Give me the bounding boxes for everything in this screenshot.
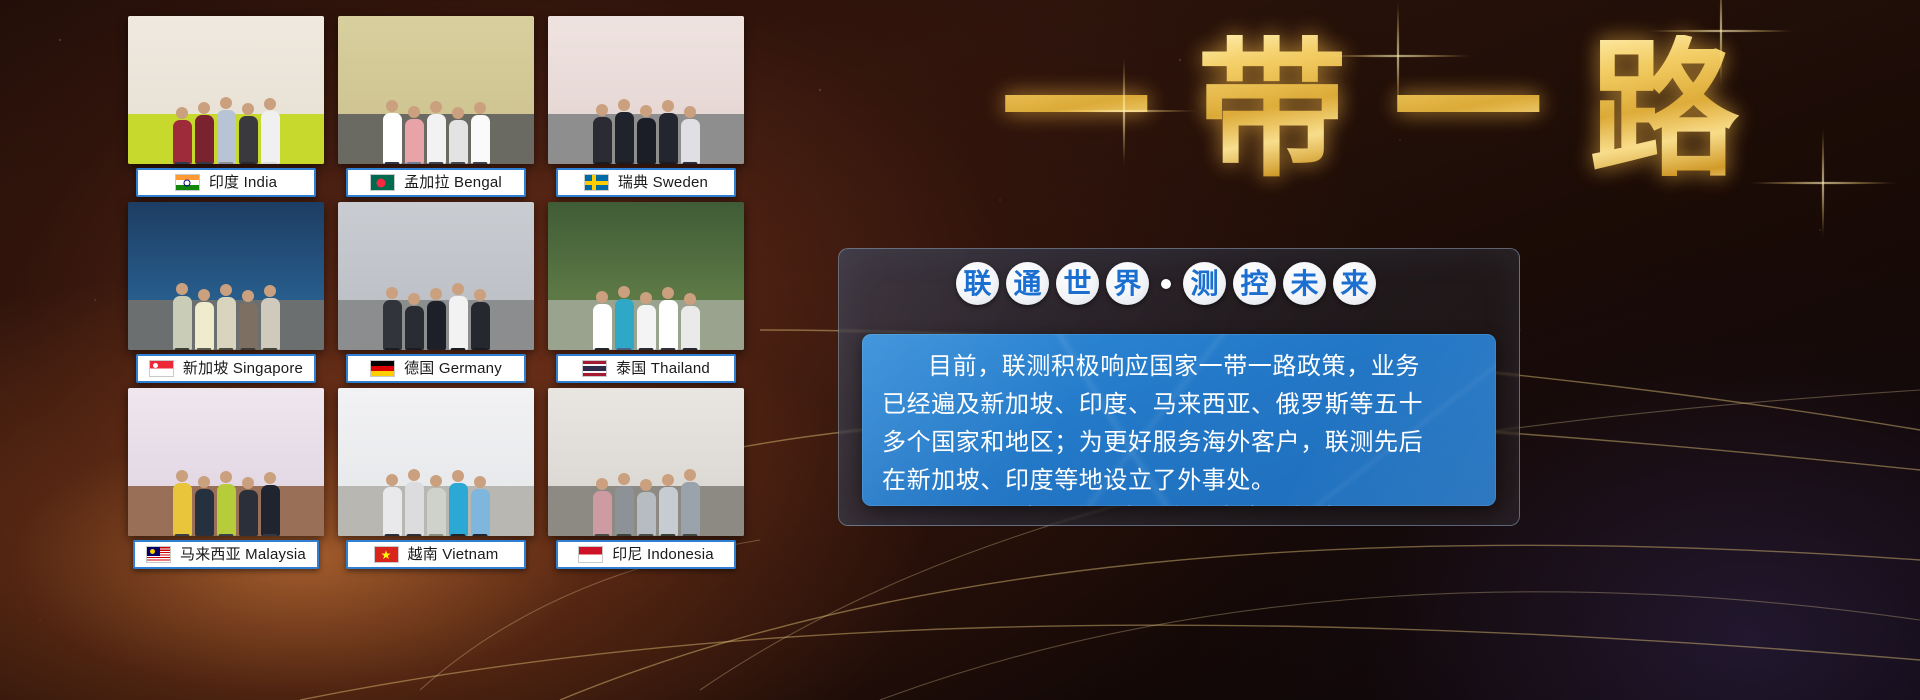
country-label-text: 印度 India bbox=[209, 175, 277, 190]
photo-group-figures bbox=[338, 426, 534, 536]
slogan-badges: 联 通 世 界 测 控 未 来 bbox=[956, 262, 1376, 305]
description-line-2: 已经遍及新加坡、印度、马来西亚、俄罗斯等五十 bbox=[882, 385, 1476, 423]
singapore-flag bbox=[149, 360, 174, 377]
banner-stage: 印度 India孟加拉 Bengal瑞典 Sweden新加坡 Singapore… bbox=[0, 0, 1920, 700]
country-photo bbox=[548, 388, 744, 536]
country-photo bbox=[338, 388, 534, 536]
germany-flag bbox=[370, 360, 395, 377]
person-figure bbox=[471, 302, 490, 350]
person-figure bbox=[615, 299, 634, 350]
person-figure bbox=[427, 114, 446, 164]
country-photo bbox=[128, 16, 324, 164]
photo-group-figures bbox=[128, 54, 324, 164]
sparkle-right bbox=[1720, 30, 1722, 32]
person-figure bbox=[217, 297, 236, 350]
person-figure bbox=[217, 484, 236, 536]
person-figure bbox=[261, 485, 280, 536]
country-label-text: 泰国 Thailand bbox=[616, 361, 710, 376]
company-description-box: 目前，联测积极响应国家一带一路政策，业务 已经遍及新加坡、印度、马来西亚、俄罗斯… bbox=[862, 334, 1496, 506]
person-figure bbox=[239, 116, 258, 164]
sparkle-left bbox=[1123, 110, 1125, 112]
country-label-text: 越南 Vietnam bbox=[408, 547, 499, 562]
country-label: 印度 India bbox=[136, 168, 316, 197]
person-figure bbox=[681, 482, 700, 536]
country-label: 马来西亚 Malaysia bbox=[133, 540, 319, 569]
photo-group-figures bbox=[128, 426, 324, 536]
person-figure bbox=[449, 483, 468, 536]
person-figure bbox=[195, 115, 214, 164]
description-line-4: 在新加坡、印度等地设立了外事处。 bbox=[882, 461, 1476, 499]
calligraphy-char-2: 带 bbox=[1197, 35, 1347, 185]
country-label: 瑞典 Sweden bbox=[556, 168, 736, 197]
indonesia-flag bbox=[578, 546, 603, 563]
country-label-text: 马来西亚 Malaysia bbox=[180, 547, 306, 562]
person-figure bbox=[383, 113, 402, 164]
photo-group-figures bbox=[548, 426, 744, 536]
person-figure bbox=[173, 483, 192, 536]
person-figure bbox=[593, 304, 612, 350]
person-figure bbox=[659, 487, 678, 536]
person-figure bbox=[261, 298, 280, 350]
person-figure bbox=[637, 492, 656, 536]
slogan-char-jie: 界 bbox=[1106, 262, 1149, 305]
country-label-text: 瑞典 Sweden bbox=[618, 175, 708, 190]
slogan-char-kong: 控 bbox=[1233, 262, 1276, 305]
sparkle-center bbox=[1397, 55, 1399, 57]
gallery-cell[interactable]: 马来西亚 Malaysia bbox=[128, 388, 324, 573]
country-label: 印尼 Indonesia bbox=[556, 540, 736, 569]
gallery-cell[interactable]: 瑞典 Sweden bbox=[548, 16, 744, 201]
description-line-1: 目前，联测积极响应国家一带一路政策，业务 bbox=[882, 347, 1476, 385]
person-figure bbox=[195, 489, 214, 536]
person-figure bbox=[405, 119, 424, 164]
country-photo bbox=[548, 16, 744, 164]
country-photo-grid: 印度 India孟加拉 Bengal瑞典 Sweden新加坡 Singapore… bbox=[128, 16, 756, 586]
country-photo bbox=[338, 202, 534, 350]
gallery-cell[interactable]: 新加坡 Singapore bbox=[128, 202, 324, 387]
slogan-separator-dot bbox=[1161, 279, 1171, 289]
person-figure bbox=[427, 301, 446, 350]
person-figure bbox=[239, 303, 258, 350]
person-figure bbox=[681, 306, 700, 350]
person-figure bbox=[449, 120, 468, 164]
gallery-cell[interactable]: 泰国 Thailand bbox=[548, 202, 744, 387]
person-figure bbox=[681, 119, 700, 164]
photo-group-figures bbox=[338, 240, 534, 350]
description-line-5: 联测，为国产仪表正名，为中国制造加分！ bbox=[882, 499, 1476, 506]
person-figure bbox=[637, 305, 656, 350]
person-figure bbox=[615, 486, 634, 536]
vietnam-flag bbox=[374, 546, 399, 563]
slogan-char-lai: 来 bbox=[1333, 262, 1376, 305]
thailand-flag bbox=[582, 360, 607, 377]
country-label-text: 德国 Germany bbox=[404, 361, 502, 376]
person-figure bbox=[615, 112, 634, 164]
person-figure bbox=[261, 111, 280, 164]
person-figure bbox=[173, 296, 192, 350]
person-figure bbox=[449, 296, 468, 350]
country-label: 新加坡 Singapore bbox=[136, 354, 316, 383]
person-figure bbox=[405, 306, 424, 350]
person-figure bbox=[471, 489, 490, 536]
slogan-char-tong: 通 bbox=[1006, 262, 1049, 305]
country-photo bbox=[548, 202, 744, 350]
slogan-char-ce: 测 bbox=[1183, 262, 1226, 305]
country-photo bbox=[338, 16, 534, 164]
person-figure bbox=[471, 115, 490, 164]
sparkle-lower-right bbox=[1822, 182, 1824, 184]
person-figure bbox=[383, 300, 402, 350]
person-figure bbox=[217, 110, 236, 164]
country-label: 越南 Vietnam bbox=[346, 540, 526, 569]
country-label: 德国 Germany bbox=[346, 354, 526, 383]
belt-and-road-calligraphy: 一 带 一 路 bbox=[840, 10, 1900, 210]
gallery-cell[interactable]: 越南 Vietnam bbox=[338, 388, 534, 573]
malaysia-flag bbox=[146, 546, 171, 563]
gallery-cell[interactable]: 印度 India bbox=[128, 16, 324, 201]
person-figure bbox=[637, 118, 656, 164]
photo-group-figures bbox=[548, 54, 744, 164]
slogan-char-lian: 联 bbox=[956, 262, 999, 305]
slogan-char-shi: 世 bbox=[1056, 262, 1099, 305]
bangladesh-flag bbox=[370, 174, 395, 191]
india-flag bbox=[175, 174, 200, 191]
person-figure bbox=[195, 302, 214, 350]
calligraphy-char-4: 路 bbox=[1589, 35, 1739, 185]
gallery-cell[interactable]: 德国 Germany bbox=[338, 202, 534, 387]
country-label-text: 印尼 Indonesia bbox=[612, 547, 714, 562]
person-figure bbox=[659, 113, 678, 164]
person-figure bbox=[383, 487, 402, 536]
person-figure bbox=[239, 490, 258, 536]
slogan-char-wei: 未 bbox=[1283, 262, 1326, 305]
country-photo bbox=[128, 202, 324, 350]
country-label: 泰国 Thailand bbox=[556, 354, 736, 383]
country-label: 孟加拉 Bengal bbox=[346, 168, 526, 197]
gallery-cell[interactable]: 孟加拉 Bengal bbox=[338, 16, 534, 201]
person-figure bbox=[405, 482, 424, 536]
person-figure bbox=[593, 117, 612, 164]
description-line-3: 多个国家和地区；为更好服务海外客户，联测先后 bbox=[882, 423, 1476, 461]
photo-group-figures bbox=[338, 54, 534, 164]
photo-group-figures bbox=[128, 240, 324, 350]
photo-group-figures bbox=[548, 240, 744, 350]
country-photo bbox=[128, 388, 324, 536]
person-figure bbox=[173, 120, 192, 164]
calligraphy-char-3: 一 bbox=[1393, 35, 1543, 185]
gallery-cell[interactable]: 印尼 Indonesia bbox=[548, 388, 744, 573]
person-figure bbox=[593, 491, 612, 536]
sweden-flag bbox=[584, 174, 609, 191]
country-label-text: 新加坡 Singapore bbox=[183, 361, 303, 376]
person-figure bbox=[659, 300, 678, 350]
person-figure bbox=[427, 488, 446, 536]
country-label-text: 孟加拉 Bengal bbox=[404, 175, 502, 190]
